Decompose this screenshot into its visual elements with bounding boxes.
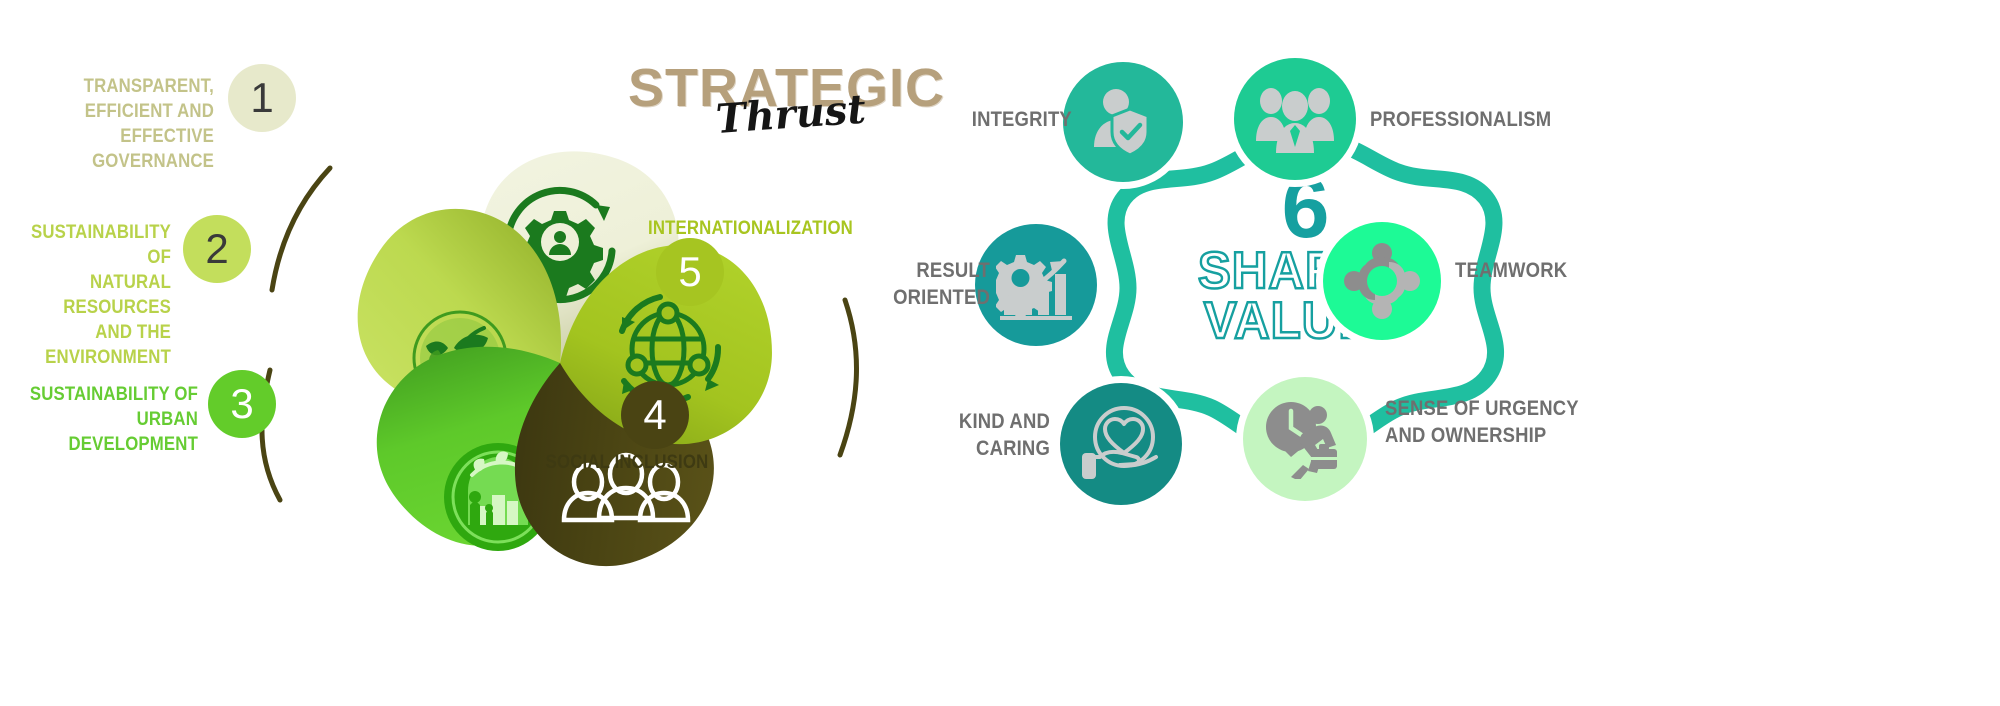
value-label-kind-caring: KIND AND CARING [914,408,1050,462]
number-label-3: 3 [230,383,253,425]
petal-internationalization[interactable] [300,95,820,615]
number-label-1: 1 [250,77,273,119]
hand-heart-icon [1080,405,1162,483]
value-bubble-sense-of-urgency[interactable] [1243,377,1367,501]
shared-values-panel: 6 SHARED VALUES INTEGRITY [1000,0,2000,706]
number-circle-1[interactable]: 1 [228,64,296,132]
value-label-teamwork: TEAMWORK [1455,257,1631,284]
value-label-professionalism: PROFESSIONALISM [1370,106,1599,133]
value-bubble-professionalism[interactable] [1234,58,1356,180]
label-urban-development: SUSTAINABILITY OF URBAN DEVELOPMENT [28,382,198,457]
number-circle-4[interactable]: 4 [621,381,689,449]
number-circle-3[interactable]: 3 [208,370,276,438]
number-label-2: 2 [205,228,228,270]
value-bubble-result-oriented[interactable] [975,224,1097,346]
three-professionals-icon [1254,81,1336,157]
number-circle-5[interactable]: 5 [656,238,724,306]
strategic-thrust-panel: STRATEGIC Thrust [0,0,1000,706]
person-shield-icon [1086,85,1160,159]
value-bubble-kind-caring[interactable] [1060,383,1182,505]
label-governance: TRANSPARENT, EFFICIENT AND EFFECTIVE GOV… [30,74,214,174]
team-circle-icon [1343,242,1421,320]
number-label-4: 4 [643,394,666,436]
label-natural-resources: SUSTAINABILITY OF NATURAL RESOURCES AND … [24,220,171,370]
number-label-5: 5 [678,251,701,293]
value-label-sense-of-urgency: SENSE OF URGENCY AND OWNERSHIP [1385,395,1605,449]
label-internationalization: INTERNATIONALIZATION [648,216,863,241]
value-bubble-teamwork[interactable] [1323,222,1441,340]
number-circle-2[interactable]: 2 [183,215,251,283]
value-label-integrity: INTEGRITY [972,106,1058,133]
clock-runner-icon [1263,399,1347,479]
label-social-inclusion: SOCIAL INCLUSION [535,450,719,475]
infographic-canvas: STRATEGIC Thrust [0,0,2000,706]
value-label-result-oriented: RESULT ORIENTED [840,257,990,311]
gear-growth-chart-icon [996,247,1076,323]
strategic-thrust-flower [300,95,820,615]
value-bubble-integrity[interactable] [1063,62,1183,182]
